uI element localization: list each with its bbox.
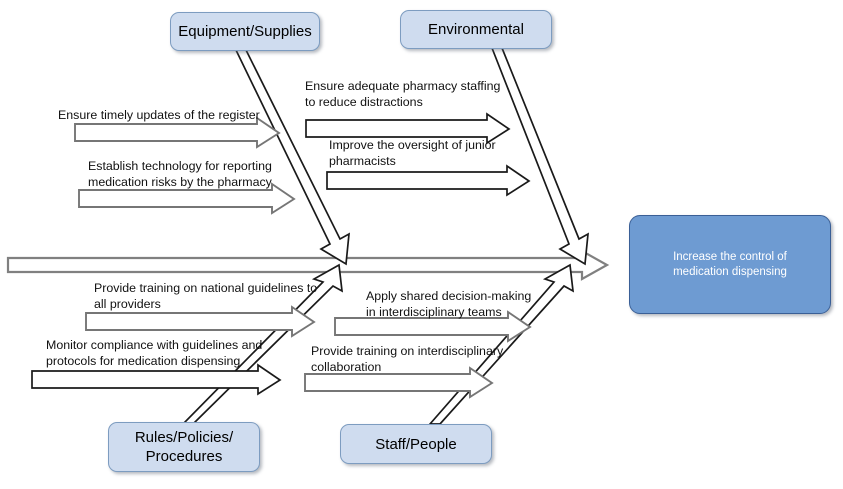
sub-arrow-environmental-2	[327, 166, 529, 195]
fishbone-diagram-canvas: Equipment/Supplies Environmental Rules/P…	[0, 0, 843, 489]
category-label-environmental: Environmental	[428, 20, 524, 39]
category-box-equipment-supplies[interactable]: Equipment/Supplies	[170, 12, 320, 51]
cause-label-rules-2: Monitor compliance with guidelines and p…	[46, 337, 326, 369]
effect-box[interactable]: Increase the control of medication dispe…	[629, 215, 831, 314]
cause-label-staff-2: Provide training on interdisciplinary co…	[311, 343, 561, 375]
category-label-rules-policies-procedures: Rules/Policies/ Procedures	[109, 428, 259, 466]
cause-label-staff-1: Apply shared decision-making in interdis…	[366, 288, 606, 320]
spine-arrow	[8, 251, 607, 279]
category-box-rules-policies-procedures[interactable]: Rules/Policies/ Procedures	[108, 422, 260, 472]
cause-label-equipment-2: Establish technology for reporting medic…	[88, 158, 318, 190]
cause-label-rules-1: Provide training on national guidelines …	[94, 280, 364, 312]
category-box-environmental[interactable]: Environmental	[400, 10, 552, 49]
category-box-staff-people[interactable]: Staff/People	[340, 424, 492, 464]
cause-label-environmental-2: Improve the oversight of junior pharmaci…	[329, 137, 579, 169]
category-label-staff-people: Staff/People	[375, 435, 456, 454]
category-label-equipment-supplies: Equipment/Supplies	[178, 22, 311, 41]
effect-label: Increase the control of medication dispe…	[644, 250, 816, 280]
cause-label-environmental-1: Ensure adequate pharmacy staffing to red…	[305, 78, 565, 110]
